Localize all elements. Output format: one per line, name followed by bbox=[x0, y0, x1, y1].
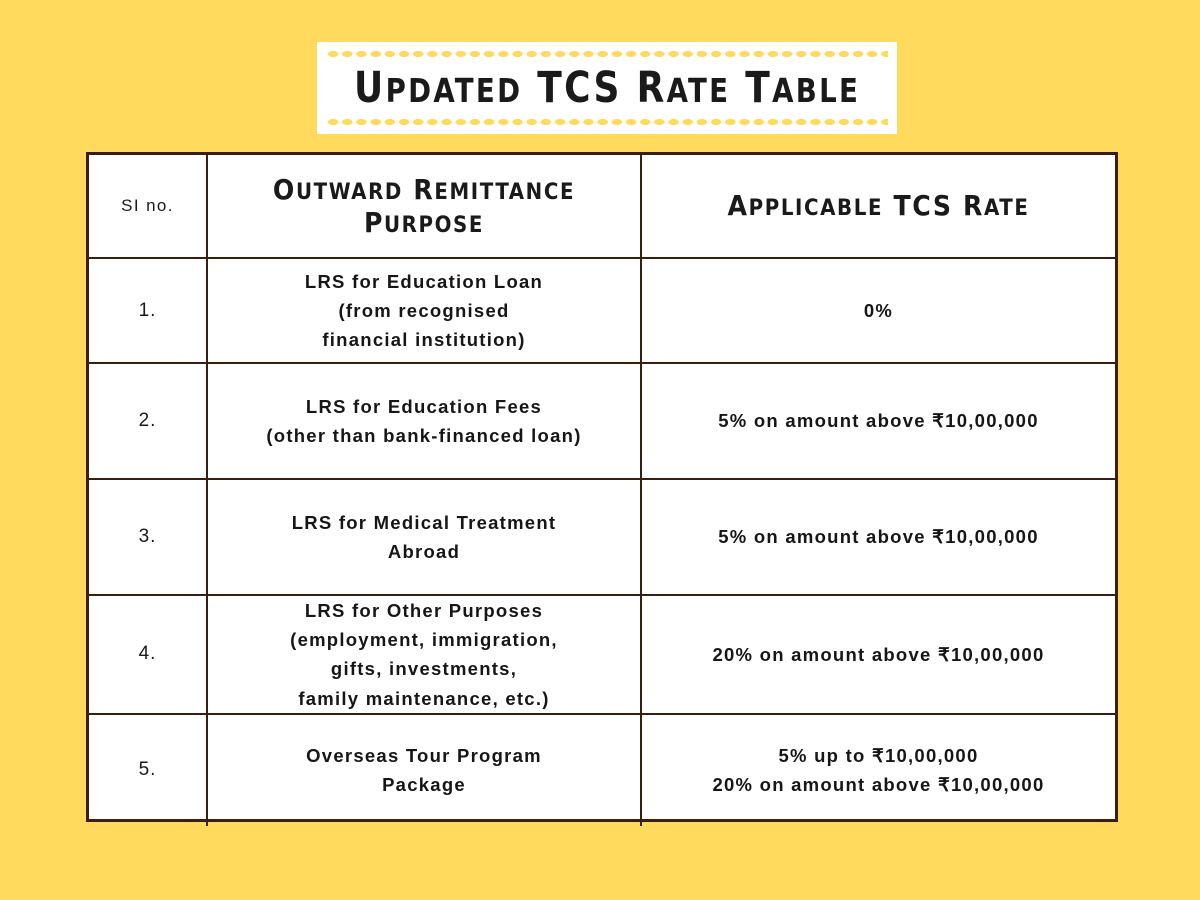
cell-purpose: LRS for Other Purposes(employment, immig… bbox=[207, 595, 641, 714]
column-header-outward-remittance-purpose: OUTWARD REMITTANCE PURPOSE bbox=[207, 155, 641, 258]
cell-rate: 5% on amount above ₹10,00,000 bbox=[641, 363, 1115, 479]
cell-rate: 0% bbox=[641, 258, 1115, 363]
table-row: 4. LRS for Other Purposes(employment, im… bbox=[89, 595, 1115, 714]
column-header-applicable-tcs-rate: APPLICABLE TCS RATE bbox=[641, 155, 1115, 258]
cell-rate: 5% up to ₹10,00,00020% on amount above ₹… bbox=[641, 714, 1115, 826]
cell-sl-no: 3. bbox=[89, 479, 207, 595]
cell-sl-no: 4. bbox=[89, 595, 207, 714]
title-banner: UPDATED TCS RATE TABLE bbox=[317, 42, 897, 134]
cell-rate: 20% on amount above ₹10,00,000 bbox=[641, 595, 1115, 714]
cell-sl-no: 5. bbox=[89, 714, 207, 826]
cell-purpose: LRS for Education Fees(other than bank-f… bbox=[207, 363, 641, 479]
poster-canvas: UPDATED TCS RATE TABLE SI no. OUTWARD RE… bbox=[0, 0, 1200, 900]
page-title-text: UPDATED TCS RATE TABLE bbox=[354, 63, 860, 113]
table-row: 1. LRS for Education Loan(from recognise… bbox=[89, 258, 1115, 363]
dotted-border-top bbox=[326, 50, 888, 58]
table-row: 2. LRS for Education Fees(other than ban… bbox=[89, 363, 1115, 479]
table-row: 3. LRS for Medical TreatmentAbroad 5% on… bbox=[89, 479, 1115, 595]
cell-purpose: Overseas Tour ProgramPackage bbox=[207, 714, 641, 826]
page-title: UPDATED TCS RATE TABLE bbox=[354, 67, 860, 110]
tcs-rate-table: SI no. OUTWARD REMITTANCE PURPOSE APPLIC… bbox=[86, 152, 1118, 822]
cell-rate: 5% on amount above ₹10,00,000 bbox=[641, 479, 1115, 595]
cell-purpose: LRS for Medical TreatmentAbroad bbox=[207, 479, 641, 595]
cell-sl-no: 1. bbox=[89, 258, 207, 363]
table-row: 5. Overseas Tour ProgramPackage 5% up to… bbox=[89, 714, 1115, 826]
table-header-row: SI no. OUTWARD REMITTANCE PURPOSE APPLIC… bbox=[89, 155, 1115, 258]
column-header-sl-no: SI no. bbox=[89, 155, 207, 258]
cell-purpose: LRS for Education Loan(from recognisedfi… bbox=[207, 258, 641, 363]
cell-sl-no: 2. bbox=[89, 363, 207, 479]
dotted-border-bottom bbox=[326, 118, 888, 126]
